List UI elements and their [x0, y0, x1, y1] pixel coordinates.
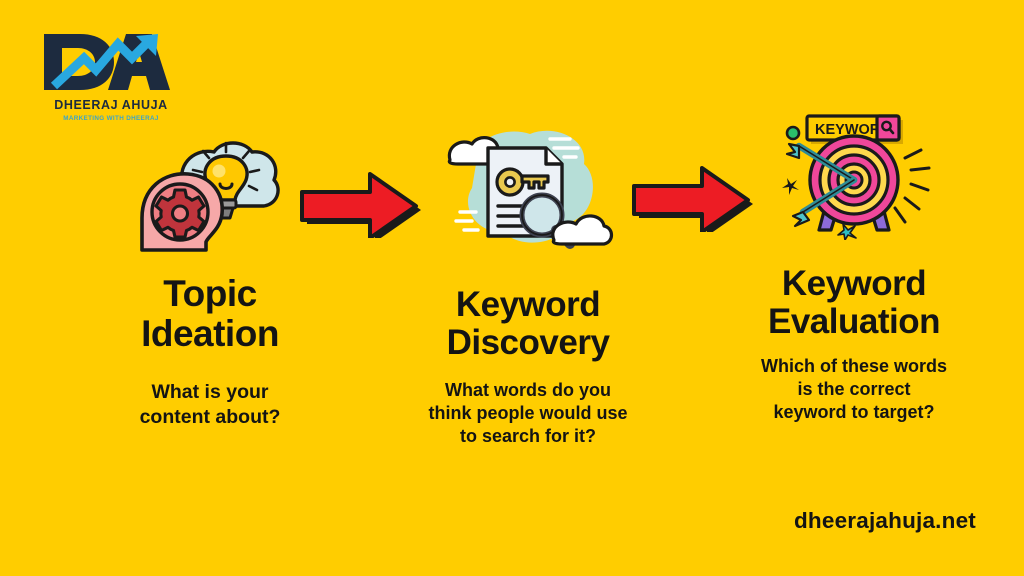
step-heading: Keyword Discovery	[408, 286, 648, 362]
target-keyword-search-icon: KEYWORD	[769, 108, 939, 240]
sub-line-1: Which of these words	[730, 355, 978, 378]
step-heading: Keyword Evaluation	[730, 265, 978, 341]
da-monogram-icon	[40, 28, 170, 96]
sub-line-2: is the correct	[730, 378, 978, 401]
logo-tagline: MARKETING WITH DHEERAJ	[38, 115, 184, 122]
step-subtext: What is your content about?	[96, 380, 324, 431]
heading-line-2: Ideation	[96, 314, 324, 354]
heading-line-1: Topic	[96, 274, 324, 314]
infographic-canvas: DHEERAJ AHUJA MARKETING WITH DHEERAJ	[0, 0, 1024, 576]
sub-line-3: to search for it?	[408, 425, 648, 448]
step-subtext: Which of these words is the correct keyw…	[730, 355, 978, 425]
sub-line-1: What words do you	[408, 379, 648, 402]
sub-line-1: What is your	[96, 380, 324, 405]
step-keyword-evaluation: KEYWORD	[730, 108, 978, 425]
website-url[interactable]: dheerajahuja.net	[794, 508, 976, 534]
brain-gear-lightbulb-icon	[130, 132, 290, 252]
flow-arrow-1	[292, 166, 424, 238]
sub-line-3: keyword to target?	[730, 401, 978, 424]
heading-line-2: Discovery	[408, 324, 648, 362]
sub-line-2: think people would use	[408, 402, 648, 425]
document-key-magnifier-icon	[442, 120, 614, 254]
step-keyword-discovery: Keyword Discovery What words do you thin…	[408, 120, 648, 449]
step-subtext: What words do you think people would use…	[408, 379, 648, 449]
logo-brand-name: DHEERAJ AHUJA	[38, 98, 184, 112]
step-heading: Topic Ideation	[96, 274, 324, 354]
heading-line-1: Keyword	[730, 265, 978, 303]
heading-line-2: Evaluation	[730, 303, 978, 341]
heading-line-1: Keyword	[408, 286, 648, 324]
step-topic-ideation: Topic Ideation What is your content abou…	[96, 132, 324, 431]
brand-logo: DHEERAJ AHUJA MARKETING WITH DHEERAJ	[36, 28, 186, 128]
sub-line-2: content about?	[96, 405, 324, 430]
